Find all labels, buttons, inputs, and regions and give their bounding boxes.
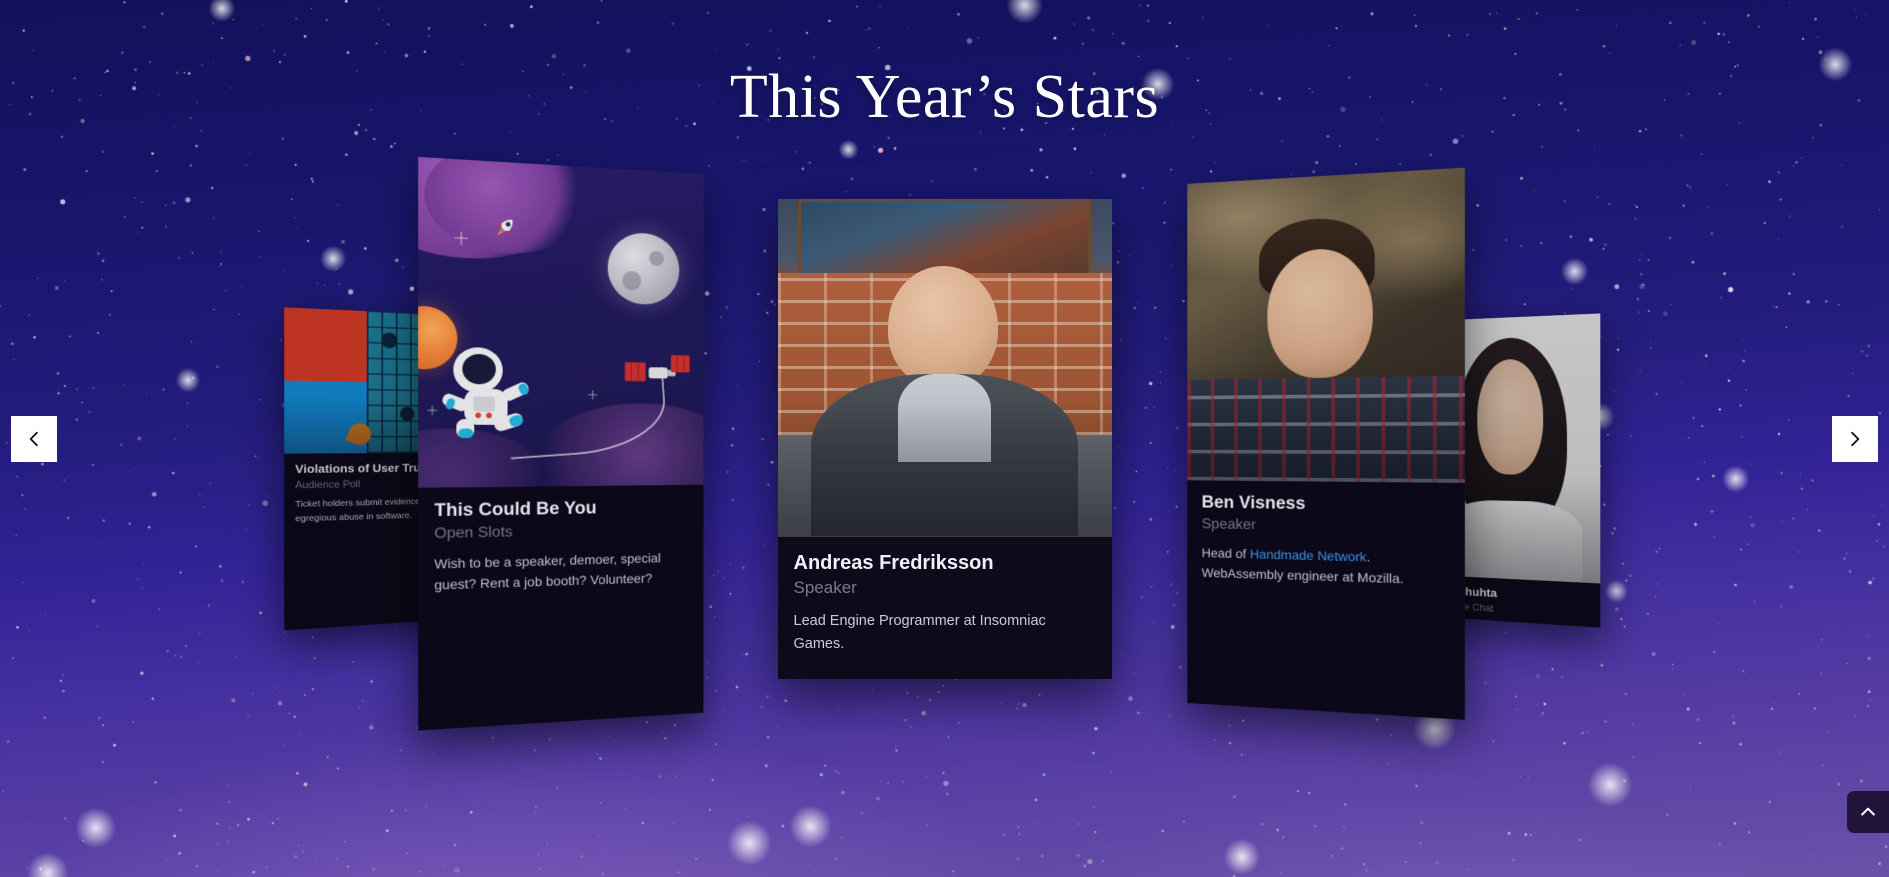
card-body: This Could Be You Open Slots Wish to be …	[418, 484, 703, 730]
moon-icon	[607, 231, 679, 305]
carousel-prev-button[interactable]	[11, 416, 57, 462]
portrait-photo	[1187, 167, 1465, 482]
page-title: This Year’s Stars	[0, 62, 1889, 133]
card-description: Head of Handmade Network. WebAssembly en…	[1201, 542, 1448, 591]
satellite-icon	[621, 349, 692, 397]
portrait-shirt	[898, 374, 992, 462]
card-media-ben-visness-portrait	[1187, 167, 1465, 482]
card-role: Open Slots	[434, 520, 689, 542]
card-role: Speaker	[794, 578, 1096, 598]
handmade-network-link[interactable]: Handmade Network	[1249, 546, 1366, 564]
carousel-card-andreas-fredriksson[interactable]: Andreas Fredriksson Speaker Lead Engine …	[778, 199, 1112, 679]
carousel-next-button[interactable]	[1832, 416, 1878, 462]
card-description: Lead Engine Programmer at Insomniac Game…	[794, 610, 1096, 657]
card-role: Speaker	[1201, 516, 1448, 538]
scroll-to-top-button[interactable]	[1847, 791, 1889, 833]
plaid-shirt	[1187, 375, 1465, 482]
card-body: Andreas Fredriksson Speaker Lead Engine …	[778, 537, 1112, 679]
card-media-astronaut-space-illustration	[418, 156, 703, 487]
card-description: Wish to be a speaker, demoer, special gu…	[434, 546, 689, 595]
page-root: This Year’s Stars Violations of User Tru…	[0, 0, 1889, 877]
chevron-up-icon	[1858, 802, 1878, 822]
carousel-card-this-could-be-you[interactable]: This Could Be You Open Slots Wish to be …	[418, 156, 703, 730]
card-title: This Could Be You	[434, 497, 689, 522]
carousel-card-ben-visness[interactable]: Ben Visness Speaker Head of Handmade Net…	[1187, 167, 1465, 719]
portrait-photo	[778, 199, 1112, 537]
card-title: Andreas Fredriksson	[794, 551, 1096, 575]
space-illustration	[418, 156, 703, 487]
card-description-prefix: Head of	[1201, 545, 1249, 561]
portrait-head	[1477, 358, 1544, 474]
chevron-left-icon	[24, 429, 44, 449]
card-title: Ben Visness	[1201, 493, 1448, 518]
card-body: Ben Visness Speaker Head of Handmade Net…	[1187, 480, 1465, 720]
chevron-right-icon	[1845, 429, 1865, 449]
portrait-head	[888, 266, 998, 388]
card-media-andreas-fredriksson-portrait	[778, 199, 1112, 537]
